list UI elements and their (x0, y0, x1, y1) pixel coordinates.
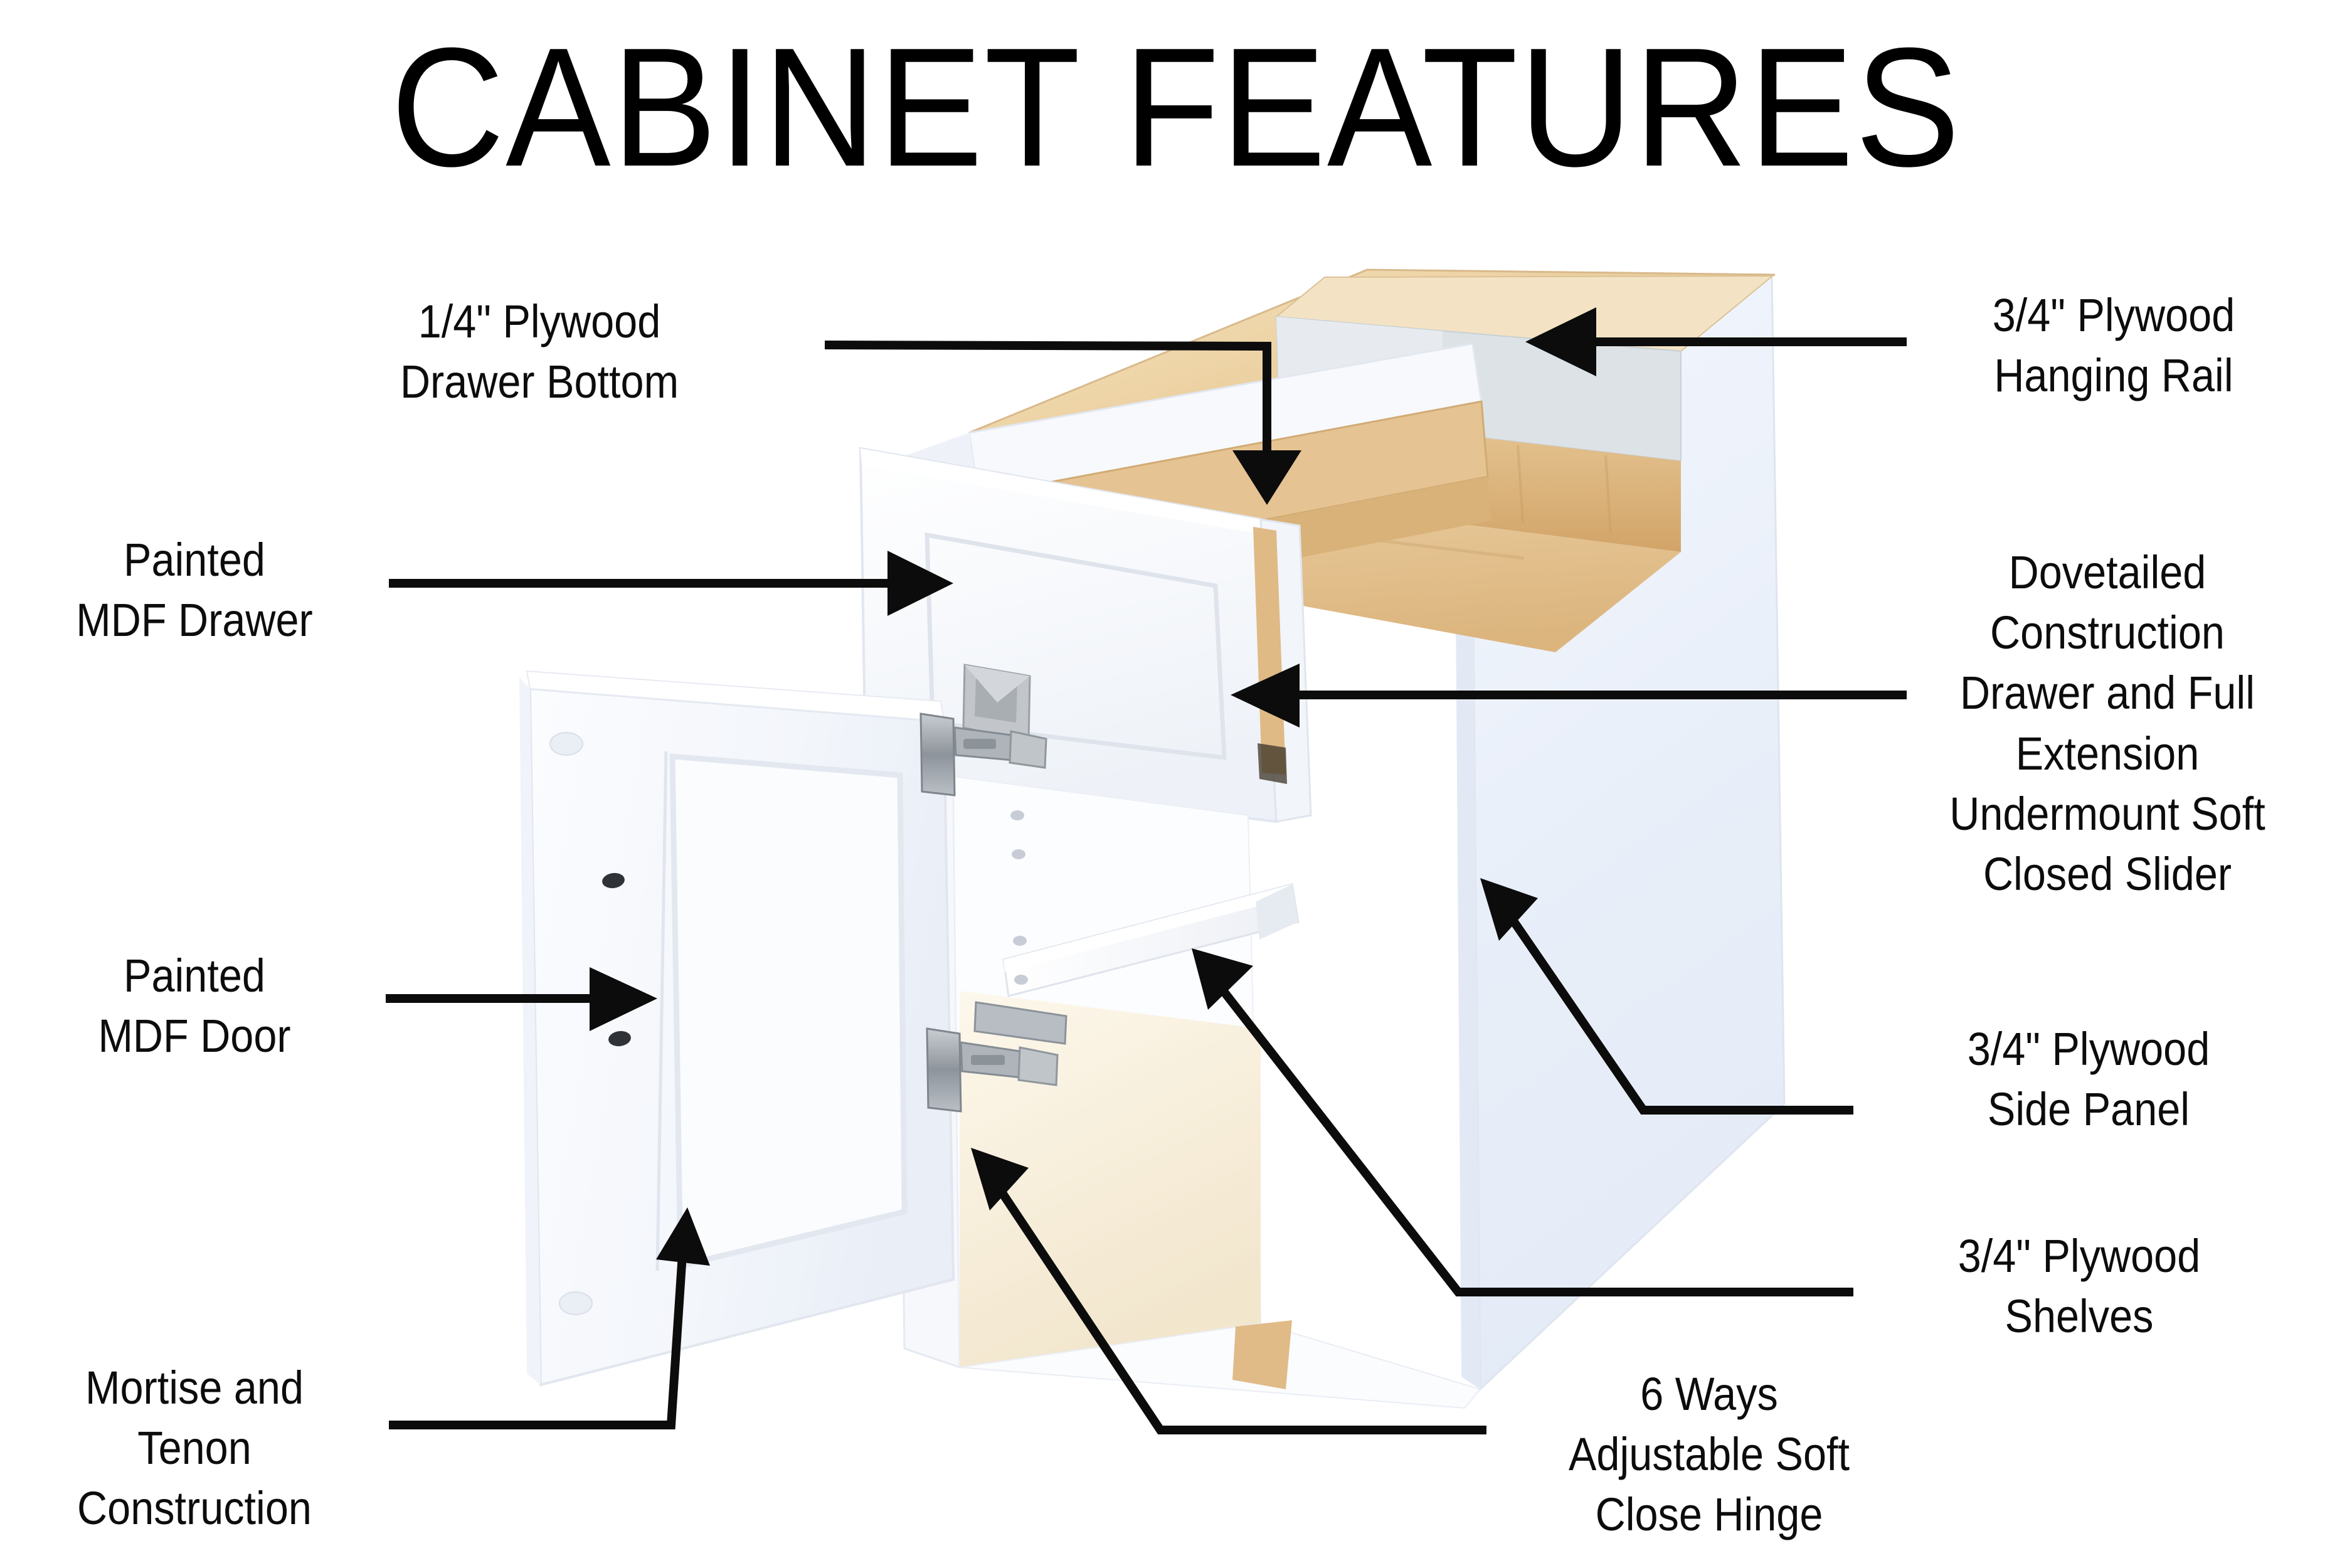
callout-dovetail-slider: Dovetailed Construction Drawer and Full … (1899, 543, 2316, 904)
callout-mdf-door-line-1: MDF Door (31, 1006, 358, 1066)
callout-drawer-bottom: 1/4" Plywood Drawer Bottom (359, 292, 720, 412)
callout-side-panel-line-0: 3/4" Plywood (1902, 1019, 2275, 1079)
callout-dovetail-line-1: Construction (1899, 603, 2316, 663)
callout-dovetail-line-0: Dovetailed (1899, 543, 2316, 603)
callout-mortise-tenon-line-0: Mortise and (25, 1358, 364, 1418)
callout-drawer-bottom-line-0: 1/4" Plywood (359, 292, 720, 352)
callout-mortise-tenon-line-1: Tenon (25, 1418, 364, 1478)
callout-drawer-bottom-line-1: Drawer Bottom (359, 352, 720, 412)
callout-dovetail-line-3: Extension (1899, 724, 2316, 784)
callout-mdf-drawer-line-1: MDF Drawer (31, 590, 358, 650)
door-inset-panel (672, 756, 904, 1266)
cabinet-features-infographic: CABINET FEATURES (0, 0, 2352, 1568)
callout-hanging-rail-line-1: Hanging Rail (1933, 346, 2294, 406)
callout-hanging-rail-line-0: 3/4" Plywood (1933, 285, 2294, 346)
cabinet-bottom-ply-edge (1232, 1320, 1292, 1389)
callout-mortise-tenon: Mortise and Tenon Construction (25, 1358, 364, 1539)
callout-dovetail-line-5: Closed Slider (1899, 844, 2316, 904)
callout-shelves: 3/4" Plywood Shelves (1893, 1226, 2265, 1347)
callout-soft-close-line-2: Close Hinge (1512, 1485, 1907, 1545)
callout-mdf-door: Painted MDF Door (31, 946, 358, 1066)
callout-side-panel: 3/4" Plywood Side Panel (1902, 1019, 2275, 1140)
callout-dovetail-line-4: Undermount Soft (1899, 784, 2316, 844)
cabinet-photo (519, 270, 1784, 1408)
callout-mdf-door-line-0: Painted (31, 946, 358, 1006)
callout-side-panel-line-1: Side Panel (1902, 1079, 2275, 1140)
callout-dovetail-line-2: Drawer and Full (1899, 663, 2316, 723)
cabinet-door[interactable] (519, 671, 953, 1385)
callout-mdf-drawer-line-0: Painted (31, 530, 358, 590)
callout-soft-close-hinge: 6 Ways Adjustable Soft Close Hinge (1512, 1364, 1907, 1545)
callout-soft-close-line-0: 6 Ways (1512, 1364, 1907, 1424)
callout-shelves-line-1: Shelves (1893, 1286, 2265, 1347)
undermount-slide-shadow (1258, 743, 1287, 784)
callout-shelves-line-0: 3/4" Plywood (1893, 1226, 2265, 1286)
callout-hanging-rail: 3/4" Plywood Hanging Rail (1933, 285, 2294, 406)
callout-mortise-tenon-line-2: Construction (25, 1478, 364, 1539)
callout-mdf-drawer: Painted MDF Drawer (31, 530, 358, 650)
callout-soft-close-line-1: Adjustable Soft (1512, 1424, 1907, 1485)
